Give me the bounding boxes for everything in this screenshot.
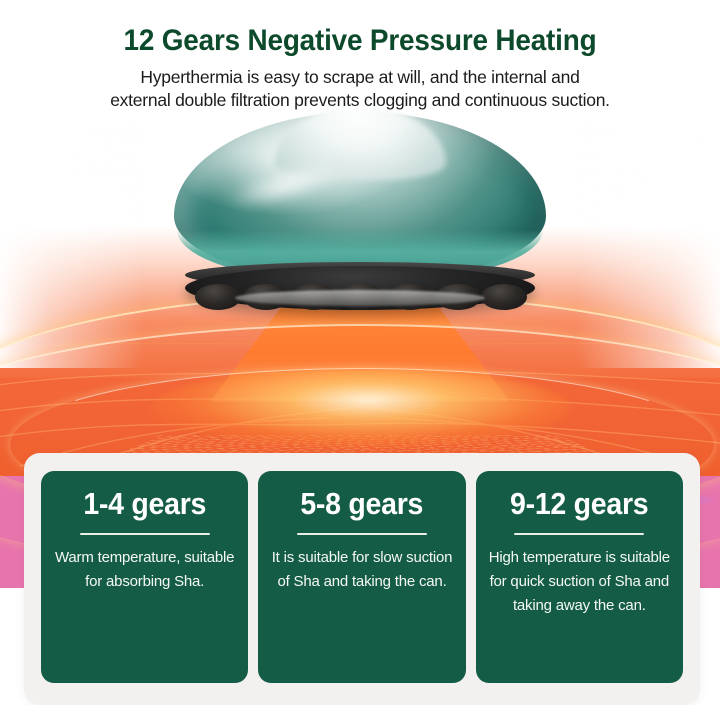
gear-card-title: 1-4 gears [83,487,206,521]
gear-card-title: 5-8 gears [301,487,424,521]
gear-card-divider [80,533,210,535]
device-lens-strip [235,290,485,306]
product-infographic: 12 Gears Negative Pressure Heating Hyper… [0,0,720,720]
gear-card-divider [297,533,427,535]
subtitle-line-2: external double filtration prevents clog… [26,89,694,112]
gear-card-description: High temperature is suitable for quick s… [486,546,673,618]
gear-card-3[interactable]: 9-12 gears High temperature is suitable … [476,471,683,683]
gear-card-2[interactable]: 5-8 gears It is suitable for slow suctio… [258,471,465,683]
gear-card-1[interactable]: 1-4 gears Warm temperature, suitable for… [41,471,248,683]
subtitle-line-1: Hyperthermia is easy to scrape at will, … [26,66,694,89]
gear-cards-panel: 1-4 gears Warm temperature, suitable for… [24,453,700,705]
gear-card-title: 9-12 gears [510,487,648,521]
gear-cards-row: 1-4 gears Warm temperature, suitable for… [24,453,700,705]
gear-card-divider [514,533,644,535]
page-title: 12 Gears Negative Pressure Heating [25,0,695,58]
page-subtitle: Hyperthermia is easy to scrape at will, … [0,58,720,112]
product-device [170,112,550,312]
header: 12 Gears Negative Pressure Heating Hyper… [0,0,720,118]
bottom-white-strip [0,705,720,720]
gear-card-description: Warm temperature, suitable for absorbing… [51,546,238,594]
gear-card-description: It is suitable for slow suction of Sha a… [268,546,455,594]
